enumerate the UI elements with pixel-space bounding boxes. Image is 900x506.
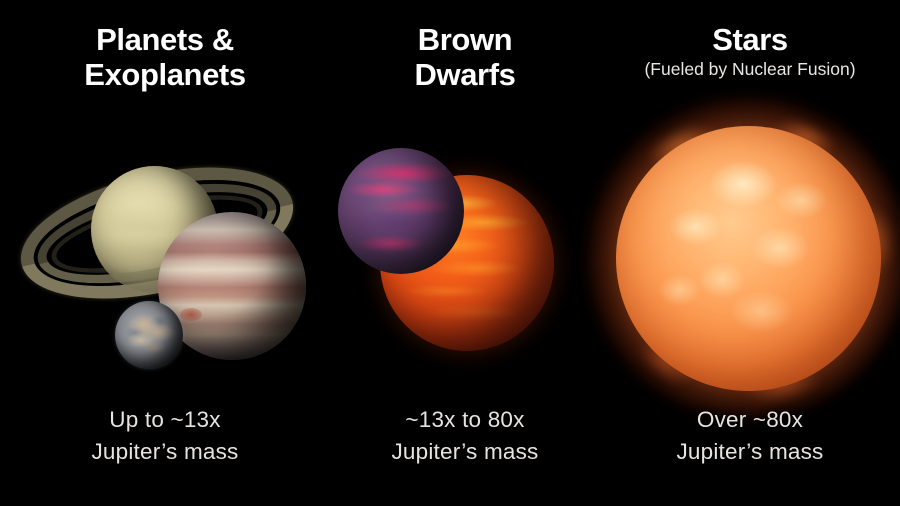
- infographic-canvas: Planets & Exoplanets Up to ~13x Jupiter’…: [0, 0, 900, 506]
- heading-dwarfs-line2: Dwarfs: [415, 57, 516, 92]
- heading-stars-line1: Stars: [712, 22, 788, 57]
- caption-stars-line1: Over ~80x: [600, 404, 900, 436]
- purple-brown-dwarf-body: [338, 148, 464, 274]
- heading-planets-exoplanets: Planets & Exoplanets: [0, 22, 330, 92]
- caption-planets-mass: Up to ~13x Jupiter’s mass: [0, 404, 330, 468]
- caption-dwarfs-line2: Jupiter’s mass: [330, 436, 600, 468]
- heading-planets-line1: Planets &: [96, 22, 234, 57]
- heading-dwarfs-line1: Brown: [418, 22, 512, 57]
- earth-like-planet-body: [115, 301, 183, 369]
- column-planets-exoplanets: Planets & Exoplanets Up to ~13x Jupiter’…: [0, 0, 330, 506]
- caption-dwarfs-mass: ~13x to 80x Jupiter’s mass: [330, 404, 600, 468]
- star-photosphere-body: [616, 126, 881, 391]
- caption-dwarfs-line1: ~13x to 80x: [330, 404, 600, 436]
- caption-stars-mass: Over ~80x Jupiter’s mass: [600, 404, 900, 468]
- heading-stars: Stars (Fueled by Nuclear Fusion): [600, 22, 900, 80]
- heading-brown-dwarfs: Brown Dwarfs: [330, 22, 600, 92]
- star-limb-darkening: [616, 126, 881, 391]
- caption-stars-line2: Jupiter’s mass: [600, 436, 900, 468]
- subheading-stars: (Fueled by Nuclear Fusion): [600, 60, 900, 80]
- caption-planets-line2: Jupiter’s mass: [0, 436, 330, 468]
- heading-planets-line2: Exoplanets: [84, 57, 245, 92]
- purple-brown-dwarf-limb: [338, 148, 464, 274]
- caption-planets-line1: Up to ~13x: [0, 404, 330, 436]
